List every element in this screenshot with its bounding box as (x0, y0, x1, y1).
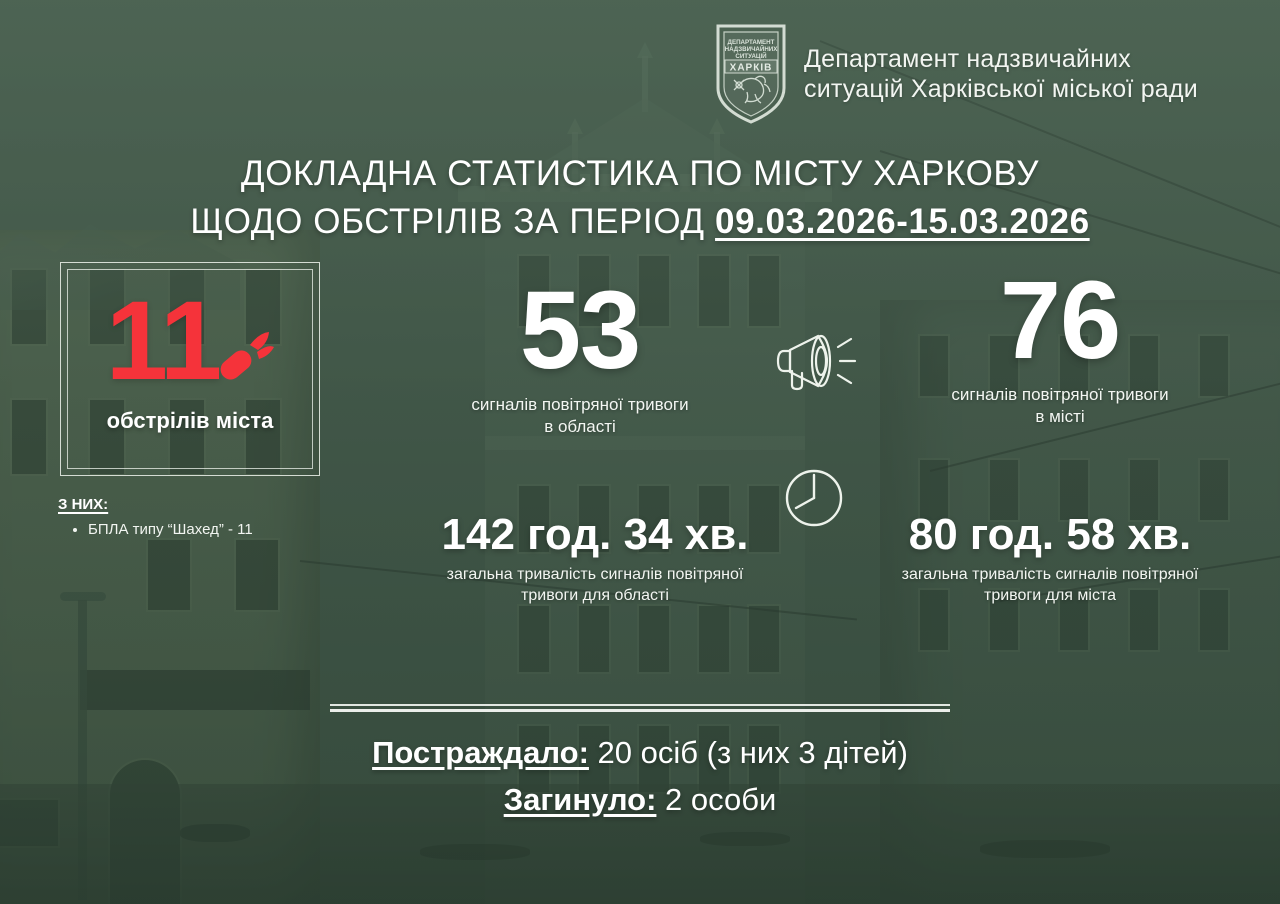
alarms-oblast-value: 53 (420, 278, 740, 384)
killed-label: Загинуло: (504, 782, 657, 817)
alarms-city-value: 76 (900, 268, 1220, 374)
list-item: БПЛА типу “Шахед” - 11 (88, 519, 388, 542)
injured-value: 20 осіб (з них 3 дітей) (589, 735, 908, 770)
shellings-card: 11 обстрілів міста (60, 262, 320, 476)
duration-city-stat: 80 год. 58 хв. загальна тривалість сигна… (845, 512, 1255, 606)
svg-text:ХАРКІВ: ХАРКІВ (730, 63, 773, 74)
alarms-city-stat: 76 сигналів повітряної тривоги в місті (900, 268, 1220, 428)
infographic-poster: ДЕПАРТАМЕНТ НАДЗВИЧАЙНИХ СИТУАЦІЙ ХАРКІВ… (0, 0, 1280, 904)
killed-value: 2 особи (656, 782, 776, 817)
injured-label: Постраждало: (372, 735, 589, 770)
shellings-number-row: 11 (61, 289, 319, 392)
shellings-label: обстрілів міста (61, 408, 319, 434)
divider-line-thin (330, 704, 950, 706)
of-which-block: З НИХ: БПЛА типу “Шахед” - 11 (58, 496, 388, 542)
alarms-oblast-caption: сигналів повітряної тривоги в області (420, 394, 740, 439)
duration-oblast-value: 142 год. 34 хв. (390, 512, 800, 558)
shellings-count: 11 (106, 289, 220, 392)
duration-oblast-caption: загальна тривалість сигналів повітряної … (390, 564, 800, 606)
injured-row: Постраждало: 20 осіб (з них 3 дітей) (0, 730, 1280, 777)
killed-row: Загинуло: 2 особи (0, 777, 1280, 824)
organization-name: Департамент надзвичайних ситуацій Харків… (804, 44, 1198, 105)
alarms-oblast-stat: 53 сигналів повітряної тривоги в області (420, 278, 740, 438)
header: ДЕПАРТАМЕНТ НАДЗВИЧАЙНИХ СИТУАЦІЙ ХАРКІВ… (714, 22, 1198, 126)
alarms-city-caption: сигналів повітряної тривоги в місті (900, 384, 1220, 429)
of-which-list: БПЛА типу “Шахед” - 11 (58, 519, 388, 542)
divider-line-thick (330, 709, 950, 712)
duration-city-caption: загальна тривалість сигналів повітряної … (845, 564, 1255, 606)
title-line-2: ЩОДО ОБСТРІЛІВ ЗА ПЕРІОД 09.03.2026-15.0… (0, 198, 1280, 246)
of-which-title: З НИХ: (58, 496, 388, 513)
bomb-icon (216, 325, 274, 383)
megaphone-icon (772, 325, 862, 397)
svg-text:СИТУАЦІЙ: СИТУАЦІЙ (735, 52, 767, 60)
title-block: ДОКЛАДНА СТАТИСТИКА ПО МІСТУ ХАРКОВУ ЩОД… (0, 150, 1280, 247)
svg-text:ДЕПАРТАМЕНТ: ДЕПАРТАМЕНТ (728, 39, 775, 46)
svg-text:НАДЗВИЧАЙНИХ: НАДЗВИЧАЙНИХ (725, 45, 779, 53)
section-divider (330, 704, 950, 712)
title-line-2-prefix: ЩОДО ОБСТРІЛІВ ЗА ПЕРІОД (190, 202, 715, 241)
report-period-dates: 09.03.2026-15.03.2026 (715, 202, 1090, 241)
title-line-1: ДОКЛАДНА СТАТИСТИКА ПО МІСТУ ХАРКОВУ (0, 150, 1280, 198)
casualties-block: Постраждало: 20 осіб (з них 3 дітей) Заг… (0, 730, 1280, 823)
duration-city-value: 80 год. 58 хв. (845, 512, 1255, 558)
dsns-shield-emblem-icon: ДЕПАРТАМЕНТ НАДЗВИЧАЙНИХ СИТУАЦІЙ ХАРКІВ (714, 22, 788, 126)
duration-oblast-stat: 142 год. 34 хв. загальна тривалість сигн… (390, 512, 800, 606)
